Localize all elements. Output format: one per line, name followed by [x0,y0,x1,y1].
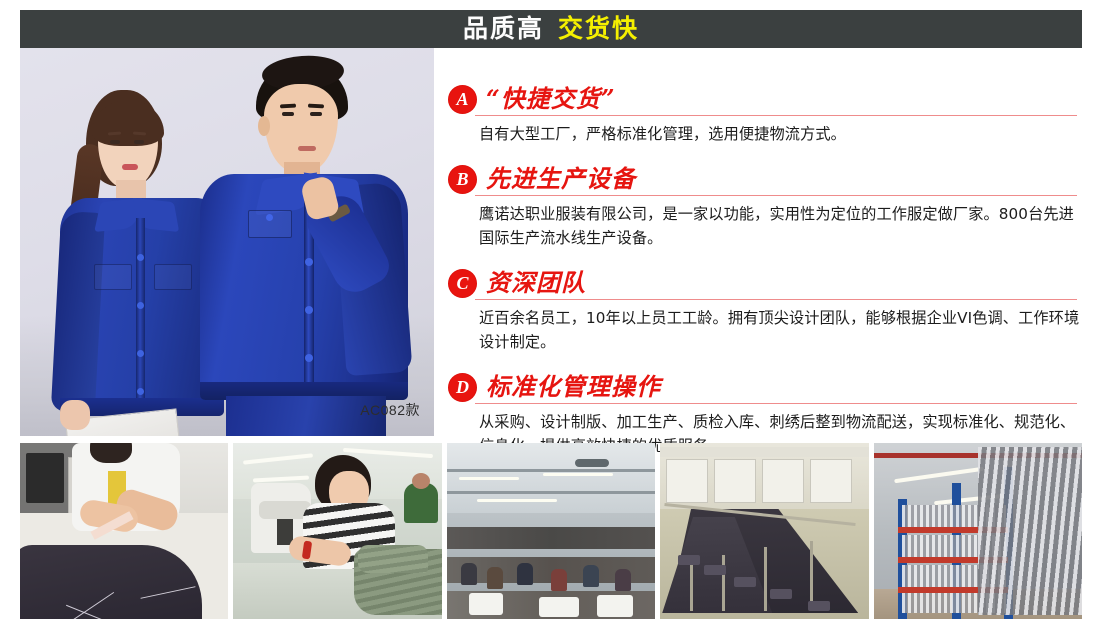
feature-a-body: 自有大型工厂，严格标准化管理，选用便捷物流方式。 [479,122,1082,146]
feature-c-title: 资深团队 [486,271,586,295]
female-button-2 [137,302,144,309]
ph3-lamp-1 [459,477,519,480]
ph3-lamp-3 [477,499,557,502]
feature-list: A “快捷交货” 自有大型工厂，严格标准化管理，选用便捷物流方式。 B 先进生产… [448,82,1082,458]
feature-d-badge-icon: D [448,373,477,402]
feature-a-badge-icon: A [448,85,477,114]
ph4-ceiling-band [660,447,868,457]
ph3-worker-2 [487,567,503,589]
male-button-1 [305,258,313,266]
ph3-worker-5 [583,565,599,587]
ph2-fabric-stack-upper [358,545,428,573]
ph4-window-3 [762,459,804,503]
ph4-garment-3 [734,577,756,587]
upper-content-region: AC082款 A “快捷交货” 自有大型工厂，严格标准化管理，选用便捷物流方式。… [0,48,1100,436]
factory-photo-strip [20,443,1082,619]
ph4-support-leg-1 [690,563,693,611]
ph4-garment-1 [678,555,700,565]
ph1-dark-fabric [20,545,202,619]
ph3-lamp-2 [543,473,613,476]
ph3-white-cloth-2 [539,597,579,617]
feature-d-title: 标准化管理操作 [486,375,661,399]
ph3-white-cloth-3 [597,595,633,617]
female-eye-left [110,140,120,144]
ph4-window-1 [666,459,708,503]
feature-a-header: A “快捷交货” [448,82,1082,116]
feature-c-badge-icon: C [448,269,477,298]
male-brow-left [280,104,296,109]
sewing-workshop-photo [447,443,655,619]
feature-item-b: B 先进生产设备 鹰诺达职业服装有限公司，是一家以功能，实用性为定位的工作服定做… [448,162,1082,250]
ph4-garment-2 [704,565,726,575]
ph2-background-worker [404,483,438,523]
pattern-cutting-photo [20,443,228,619]
feature-b-title: 先进生产设备 [486,167,636,191]
male-model [200,62,414,436]
ph3-worker-6 [615,569,631,591]
page-title-primary: 品质高 [463,15,544,43]
warehouse-racking-photo [874,443,1082,619]
feature-d-header: D 标准化管理操作 [448,370,1082,404]
ph3-worker-3 [517,563,533,585]
female-chest-pocket-right [154,264,192,290]
male-face [264,84,338,172]
page-title: 品质高交货快 [463,17,639,42]
ph3-worker-row-1 [447,527,655,549]
page-title-accent: 交货快 [558,15,639,43]
page-header-bar: 品质高交货快 [20,10,1082,48]
sewing-operator-photo [233,443,441,619]
ph5-hanging-garments [978,447,1082,615]
ph2-background-worker-head [412,473,430,489]
product-hero-photo: AC082款 [20,48,434,436]
ph4-garment-5 [808,601,830,611]
feature-a-title: “快捷交货” [486,87,616,111]
feature-c-header: C 资深团队 [448,266,1082,300]
ph4-support-leg-3 [764,547,767,611]
female-jacket-placket [136,218,145,416]
male-button-3 [305,354,313,362]
feature-item-a: A “快捷交货” 自有大型工厂，严格标准化管理，选用便捷物流方式。 [448,82,1082,146]
ph3-ceiling-fan [575,459,609,467]
female-eye-right [134,140,144,144]
ph3-worker-1 [461,563,477,585]
ph1-worker-head [90,443,132,463]
male-button-2 [305,306,313,314]
conveyor-line-photo [660,443,868,619]
ph3-beam-1 [447,469,655,472]
male-eye-right [310,112,322,116]
feature-item-c: C 资深团队 近百余名员工，10年以上员工工龄。拥有顶尖设计团队，能够根据企业V… [448,266,1082,354]
female-hand [60,400,90,430]
ph3-white-cloth-1 [469,593,503,615]
feature-c-divider [475,299,1077,300]
ph4-window-2 [714,459,756,503]
female-chest-pocket-left [94,264,132,290]
feature-b-divider [475,195,1077,196]
ph4-support-leg-2 [722,555,725,611]
female-button-1 [137,254,144,261]
ph1-monitor [26,453,64,503]
ph3-beam-2 [447,491,655,494]
ph5-light-tube-1 [894,467,984,483]
ph4-garment-4 [770,589,792,599]
feature-b-header: B 先进生产设备 [448,162,1082,196]
male-brow-right [308,104,324,109]
feature-b-body: 鹰诺达职业服装有限公司，是一家以功能，实用性为定位的工作服定做厂家。800台先进… [479,202,1082,250]
feature-b-badge-icon: B [448,165,477,194]
feature-c-body: 近百余名员工，10年以上员工工龄。拥有顶尖设计团队，能够根据企业VI色调、工作环… [479,306,1082,354]
ph4-window-4 [810,459,852,503]
male-ear [258,116,270,136]
feature-a-divider [475,115,1077,116]
female-button-3 [137,350,144,357]
male-lips [298,146,316,151]
product-code-label: AC082款 [360,400,420,420]
feature-d-divider [475,403,1077,404]
male-eye-left [282,112,294,116]
female-button-4 [137,388,144,395]
ph3-worker-4 [551,569,567,591]
female-lips [122,164,138,170]
male-pocket-button [266,214,273,221]
